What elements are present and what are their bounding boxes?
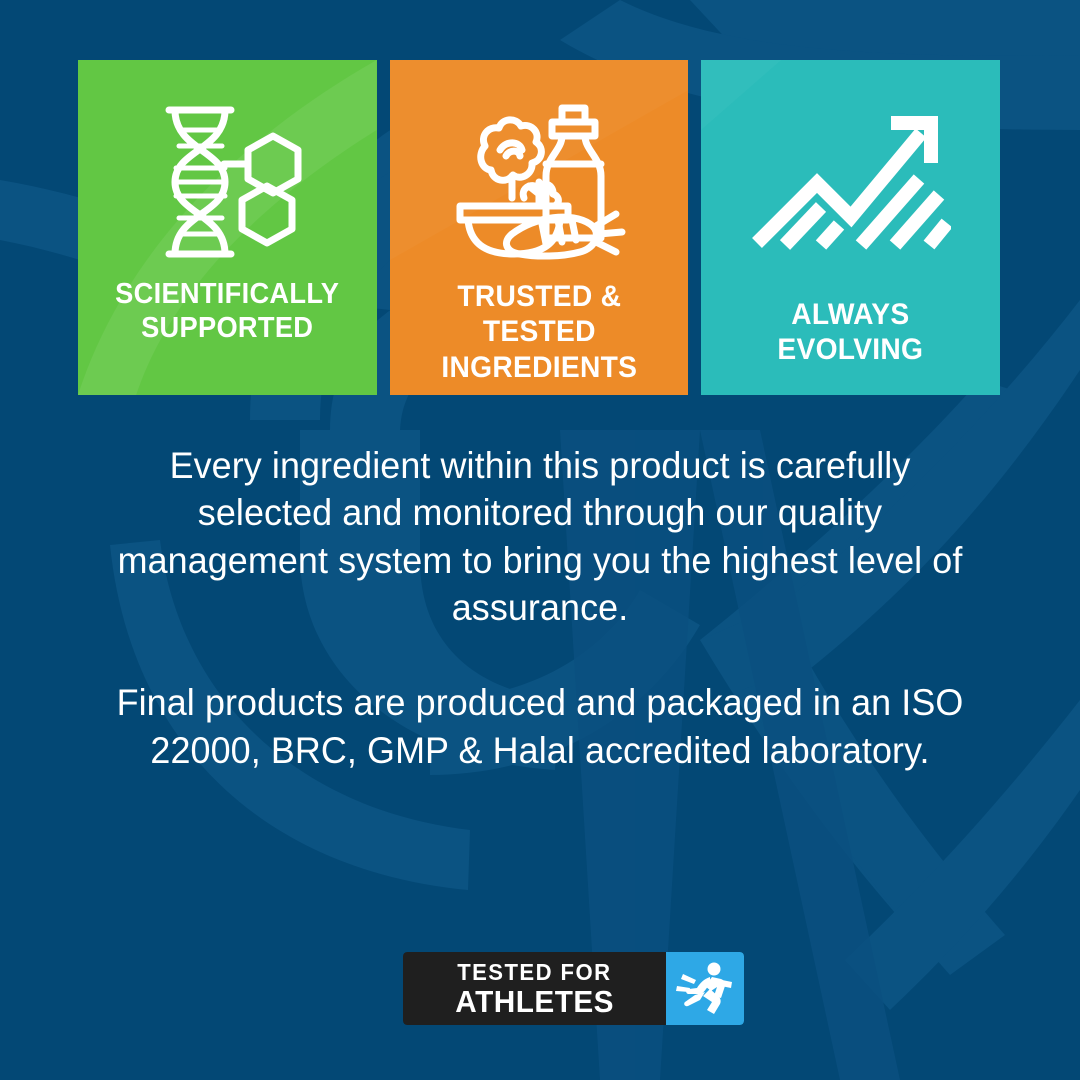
feature-card-label: TRUSTED & TESTED INGREDIENTS — [399, 279, 680, 385]
feature-card-row: SCIENTIFICALLY SUPPORTED — [78, 60, 1000, 395]
vegetable-basket-bottle-icon — [450, 94, 628, 269]
tested-for-athletes-badge: TESTED FOR ATHLETES — [403, 952, 744, 1025]
dna-molecule-icon — [152, 94, 302, 269]
body-paragraph-2: Final products are produced and packaged… — [104, 679, 977, 774]
body-paragraph-1: Every ingredient within this product is … — [104, 442, 977, 631]
running-athlete-icon — [666, 952, 744, 1025]
feature-card-label: ALWAYS EVOLVING — [710, 297, 991, 368]
badge-text-panel: TESTED FOR ATHLETES — [403, 952, 666, 1025]
badge-line-1: TESTED FOR — [457, 961, 611, 984]
feature-card-trusted-tested-ingredients[interactable]: TRUSTED & TESTED INGREDIENTS — [390, 60, 689, 395]
rising-arrow-chart-icon — [751, 94, 951, 269]
badge-line-2: ATHLETES — [455, 986, 614, 1019]
body-copy: Every ingredient within this product is … — [90, 442, 990, 774]
feature-card-label: SCIENTIFICALLY SUPPORTED — [110, 277, 345, 345]
feature-card-scientifically-supported[interactable]: SCIENTIFICALLY SUPPORTED — [78, 60, 377, 395]
promo-graphic: SCIENTIFICALLY SUPPORTED — [0, 0, 1080, 1080]
feature-card-always-evolving[interactable]: ALWAYS EVOLVING — [701, 60, 1000, 395]
